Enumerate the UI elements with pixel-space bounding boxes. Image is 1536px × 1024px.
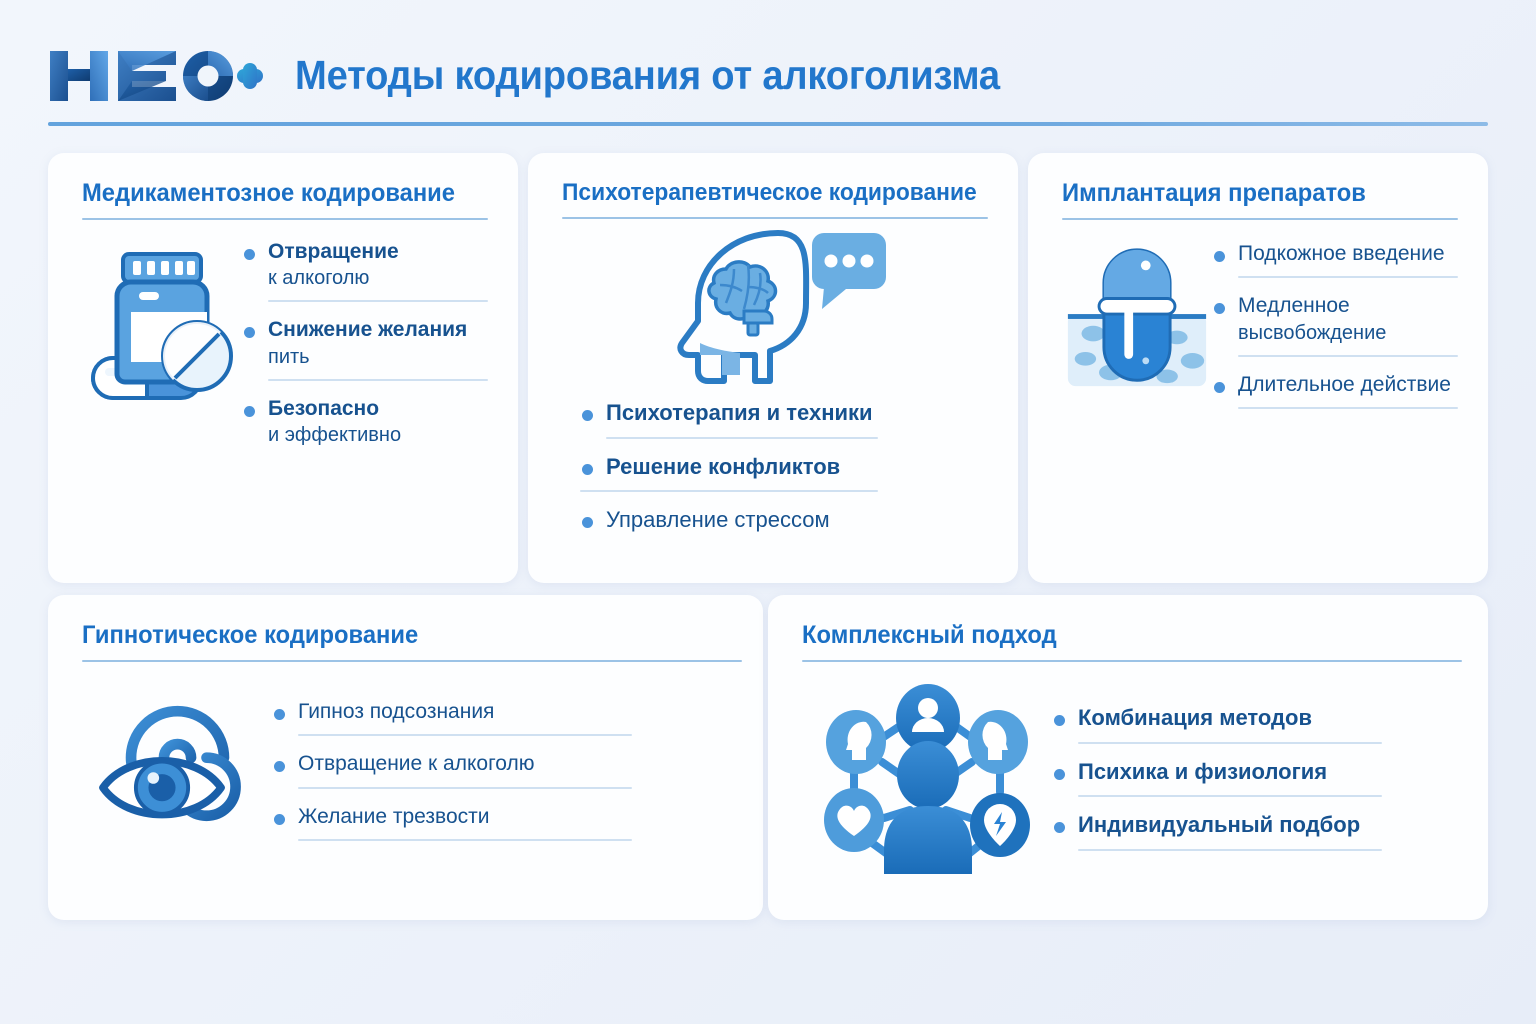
item-line-1: Гипноз подсознания (298, 698, 632, 725)
items-complex: Комбинация методов Психика и физиология … (1052, 678, 1382, 865)
item-divider (268, 379, 488, 381)
item-divider (298, 839, 632, 841)
bullet-dot (1054, 715, 1065, 726)
card-title-divider (802, 660, 1462, 662)
bullet-dot (274, 761, 285, 772)
item-divider (298, 734, 632, 736)
bullet-dot (244, 406, 255, 417)
card-complex-approach[interactable]: Комплексный подход (768, 595, 1488, 920)
infographic-page: Методы кодирования от алкоголизма Медика… (0, 0, 1536, 1024)
page-title: Методы кодирования от алкоголизма (295, 52, 1000, 99)
item-line-1: Длительное действие (1238, 371, 1458, 398)
card-hypnosis[interactable]: Гипнотическое кодирование (48, 595, 763, 920)
item-divider (1078, 849, 1382, 851)
item-line-2: к алкоголю (268, 265, 488, 291)
item-line-1: Психотерапия и техники (606, 399, 988, 428)
list-item[interactable]: Безопасно и эффективно (242, 395, 488, 448)
list-item[interactable]: Длительное действие (1212, 371, 1458, 398)
list-item[interactable]: Подкожное введение (1212, 240, 1458, 267)
header-divider (48, 122, 1488, 126)
item-line-1: Безопасно (268, 395, 488, 422)
item-divider (580, 490, 878, 492)
item-line-2: пить (268, 344, 488, 370)
bullet-dot (1214, 251, 1225, 262)
bullet-dot (274, 814, 285, 825)
item-line-1: Подкожное введение (1238, 240, 1458, 267)
bullet-dot (1214, 303, 1225, 314)
hypnosis-eye-icon (82, 682, 272, 838)
card-title-psychotherapy: Психотерапевтическое кодирование (562, 179, 967, 207)
item-line-1: Индивидуальный подбор (1078, 811, 1382, 840)
page-header: Методы кодирования от алкоголизма (48, 28, 1488, 123)
pill-bottle-icon (82, 238, 242, 406)
item-divider (1238, 276, 1458, 278)
card-title-implantation: Имплантация препаратов (1062, 179, 1438, 208)
bullet-dot (582, 517, 593, 528)
item-line-1: Психика и физиология (1078, 758, 1382, 787)
list-item[interactable]: Медленное высвобождение (1212, 292, 1458, 345)
item-line-2: и эффективно (268, 422, 488, 448)
item-divider (298, 787, 632, 789)
bullet-dot (1054, 769, 1065, 780)
items-medication: Отвращение к алкоголю Снижение желания п… (242, 238, 488, 448)
list-item[interactable]: Психотерапия и техники (580, 399, 988, 428)
item-line-1: Управление стрессом (606, 506, 988, 535)
list-item[interactable]: Комбинация методов (1052, 704, 1382, 733)
item-line-1: Решение конфликтов (606, 453, 988, 482)
list-item[interactable]: Психика и физиология (1052, 758, 1382, 787)
card-title-divider (82, 218, 488, 220)
head-brain-speech-icon (562, 225, 988, 385)
item-line-1: Отвращение (268, 238, 488, 265)
bullet-dot (582, 410, 593, 421)
items-hypnosis: Гипноз подсознания Отвращение к алкоголю… (272, 682, 632, 855)
bullet-dot (582, 464, 593, 475)
item-divider (1238, 355, 1458, 357)
card-title-complex: Комплексный подход (802, 621, 1425, 650)
item-line-1: Снижение желания (268, 316, 488, 343)
bullet-dot (244, 249, 255, 260)
list-item[interactable]: Решение конфликтов (580, 453, 988, 482)
item-line-1: Желание трезвости (298, 803, 632, 830)
list-item[interactable]: Отвращение к алкоголю (272, 750, 632, 777)
item-divider (1078, 742, 1382, 744)
list-item[interactable]: Гипноз подсознания (272, 698, 632, 725)
card-title-divider (82, 660, 742, 662)
card-psychotherapy[interactable]: Психотерапевтическое кодирование (528, 153, 1018, 583)
item-line-1: Отвращение к алкоголю (298, 750, 632, 777)
people-network-icon (802, 678, 1052, 875)
item-divider (268, 300, 488, 302)
bullet-dot (1054, 822, 1065, 833)
capsule-implant-icon (1062, 240, 1212, 390)
card-implantation[interactable]: Имплантация препаратов (1028, 153, 1488, 583)
items-implantation: Подкожное введение Медленное высвобожден… (1212, 240, 1458, 423)
list-item[interactable]: Желание трезвости (272, 803, 632, 830)
card-title-hypnosis: Гипнотическое кодирование (82, 621, 700, 650)
item-divider (606, 437, 878, 439)
card-title-divider (562, 217, 988, 219)
list-item[interactable]: Индивидуальный подбор (1052, 811, 1382, 840)
card-title-divider (1062, 218, 1458, 220)
item-line-2: высвобождение (1238, 320, 1458, 346)
item-line-1: Комбинация методов (1078, 704, 1382, 733)
neo-plus-logo (48, 45, 263, 107)
card-medication[interactable]: Медикаментозное кодирование (48, 153, 518, 583)
items-psychotherapy: Психотерапия и техники Решение конфликто… (580, 399, 988, 535)
list-item[interactable]: Отвращение к алкоголю (242, 238, 488, 291)
card-title-medication: Медикаментозное кодирование (82, 179, 468, 208)
bullet-dot (1214, 382, 1225, 393)
list-item[interactable]: Снижение желания пить (242, 316, 488, 369)
item-line-1: Медленное (1238, 292, 1458, 319)
bullet-dot (274, 709, 285, 720)
list-item[interactable]: Управление стрессом (580, 506, 988, 535)
item-divider (1078, 795, 1382, 797)
bullet-dot (244, 327, 255, 338)
item-divider (1238, 407, 1458, 409)
